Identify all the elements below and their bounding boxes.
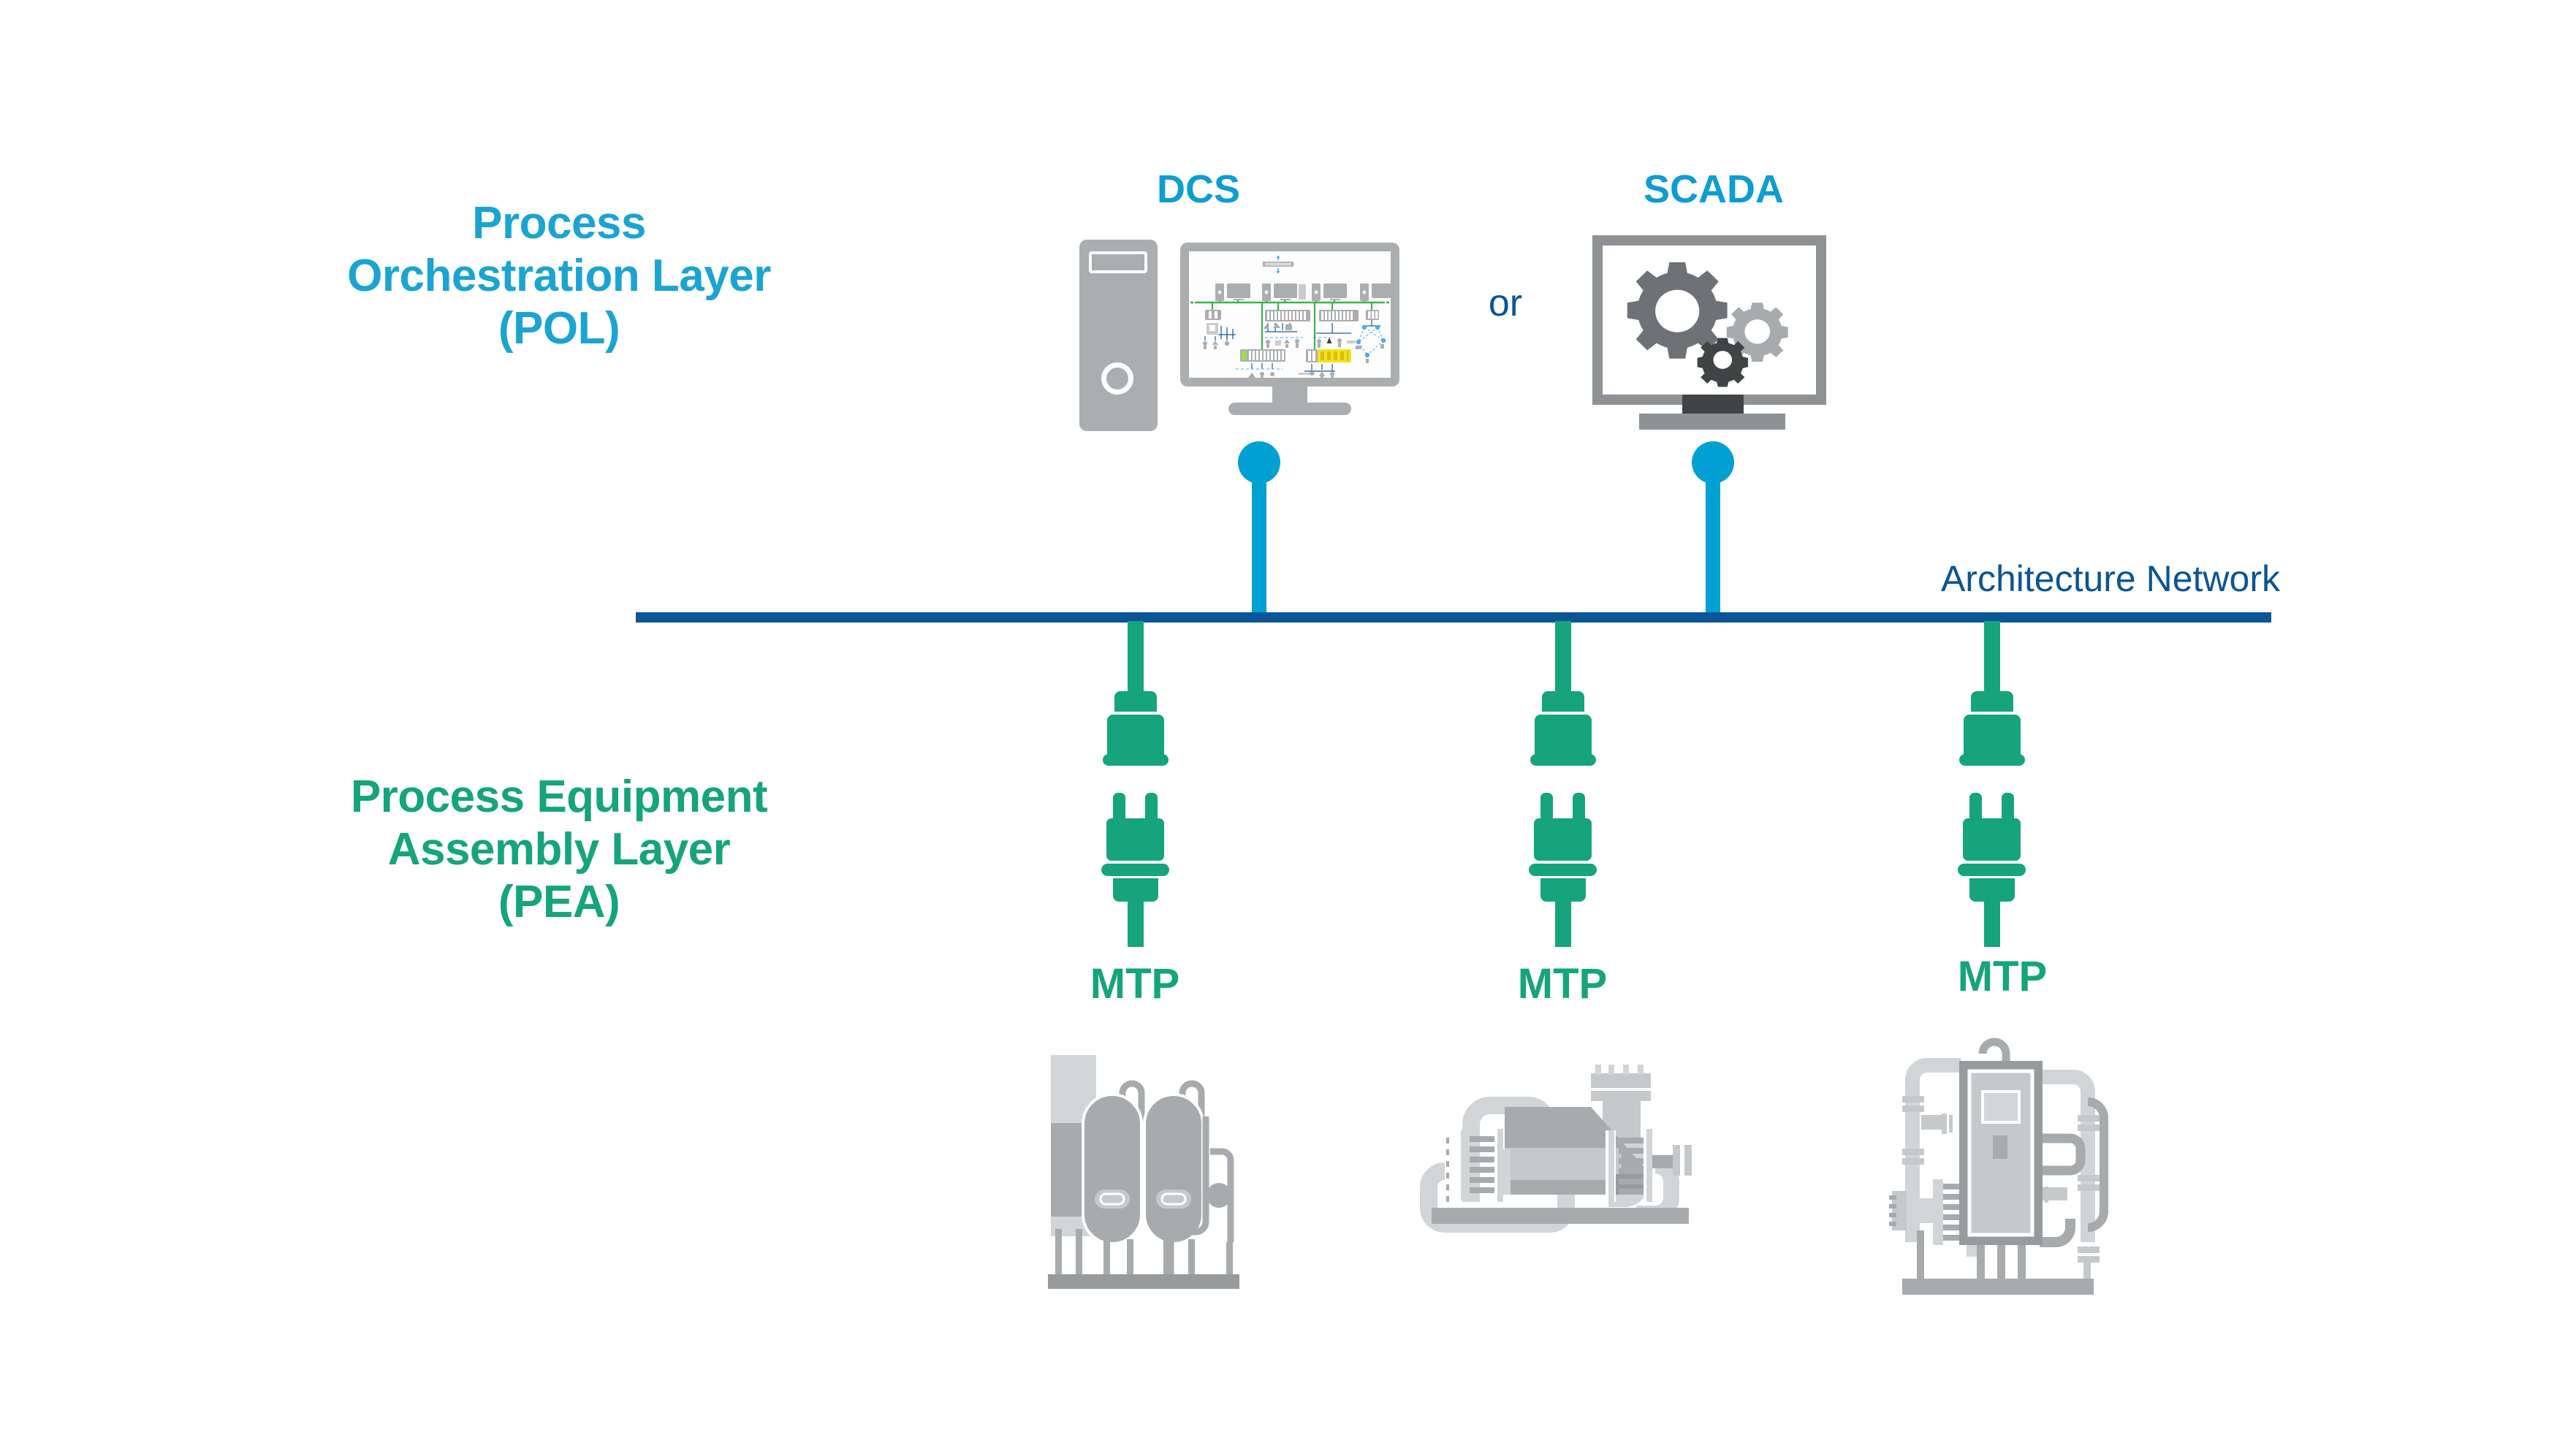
dcs-plant-network-schematic [1189, 251, 1391, 378]
socket-lip-icon [1103, 754, 1169, 766]
plug-socket-connector-3 [1933, 621, 2050, 1008]
cable-segment-lower [1555, 902, 1571, 947]
plug-lip-icon [1101, 864, 1169, 876]
plug-body-icon [1963, 818, 2021, 861]
plug-tail-icon [1113, 878, 1158, 902]
socket-body-icon [1964, 715, 2021, 760]
cable-segment-lower [1128, 902, 1144, 947]
layer-title-pea: Process Equipment Assembly Layer (PEA) [219, 771, 899, 929]
cable-segment-upper [1128, 621, 1144, 693]
dcs-monitor-icon [1180, 243, 1399, 387]
architecture-network-label: Architecture Network [1812, 557, 2280, 600]
cable-segment-lower [1984, 902, 2000, 947]
equipment-vertical-reactor-icon [1867, 1029, 2130, 1303]
monitor-base-icon [1228, 403, 1351, 415]
twin-tank-vessels-svg [1038, 1023, 1250, 1301]
socket-body-icon [1107, 715, 1164, 760]
gears-icon [1603, 245, 1816, 395]
plug-socket-connector-2 [1504, 621, 1621, 1008]
scada-screen-content [1603, 245, 1816, 395]
socket-collar-icon [1542, 691, 1584, 712]
socket-lip-icon [1530, 754, 1596, 766]
plug-lip-icon [1529, 864, 1597, 876]
plug-socket-connector-1 [1076, 621, 1193, 1008]
socket-collar-icon [1971, 691, 2013, 712]
equipment-horizontal-pump-icon [1407, 1048, 1714, 1260]
dcs-screen-content [1189, 251, 1391, 378]
vertical-reactor-svg [1867, 1029, 2130, 1303]
layer-title-pol: Process Orchestration Layer (POL) [219, 197, 899, 355]
diagram-canvas: Process Orchestration Layer (POL) Proces… [0, 0, 2576, 1454]
uplink-line-dcs [1252, 460, 1266, 617]
or-separator-label: or [1454, 281, 1557, 325]
uplink-line-scada [1706, 460, 1720, 617]
scada-caption: SCADA [1604, 167, 1823, 212]
mtp-caption-2: MTP [1460, 959, 1665, 1008]
plug-lip-icon [1958, 864, 2026, 876]
cable-segment-upper [1555, 621, 1571, 693]
socket-body-icon [1535, 715, 1592, 760]
socket-lip-icon [1959, 754, 2025, 766]
scada-monitor-base-icon [1639, 414, 1785, 430]
plug-tail-icon [1969, 878, 2015, 902]
cable-segment-upper [1984, 621, 2000, 693]
mtp-caption-3: MTP [1900, 952, 2105, 1001]
plug-tail-icon [1540, 878, 1586, 902]
network-node-dot-scada [1692, 441, 1734, 484]
network-node-dot-dcs [1238, 441, 1280, 484]
plug-body-icon [1534, 818, 1592, 861]
plug-body-icon [1106, 818, 1164, 861]
scada-monitor-icon [1592, 235, 1826, 405]
mtp-caption-1: MTP [1033, 959, 1237, 1008]
dcs-caption: DCS [1096, 167, 1301, 212]
equipment-twin-tank-vessels-icon [1038, 1023, 1250, 1301]
horizontal-pump-svg [1407, 1048, 1714, 1260]
power-button-icon [1101, 362, 1133, 395]
socket-collar-icon [1114, 691, 1157, 712]
drive-slot-icon [1089, 251, 1147, 273]
computer-tower-icon [1079, 240, 1158, 431]
